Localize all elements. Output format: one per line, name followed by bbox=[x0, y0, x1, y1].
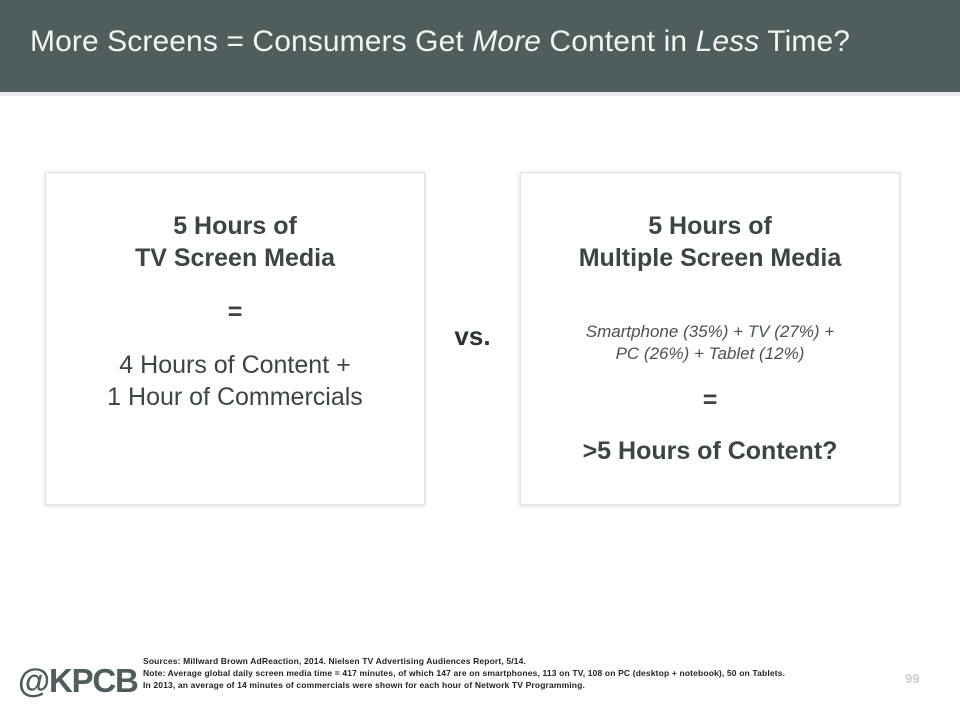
right-panel-breakdown-line-2: PC (26%) + Tablet (12%) bbox=[549, 343, 871, 365]
page-title-segment-3: Time? bbox=[759, 25, 850, 58]
right-panel-breakdown-line-1: Smartphone (35%) + TV (27%) + bbox=[549, 321, 871, 343]
source-note-line-1: Sources: Millward Brown AdReaction, 2014… bbox=[143, 655, 903, 667]
left-panel-detail: 4 Hours of Content + 1 Hour of Commercia… bbox=[46, 349, 424, 413]
right-panel-headline: 5 Hours of Multiple Screen Media bbox=[521, 210, 899, 274]
left-panel-detail-line-1: 4 Hours of Content + bbox=[46, 349, 424, 381]
page-title-emphasis-less: Less bbox=[696, 25, 760, 58]
left-panel-headline: 5 Hours of TV Screen Media bbox=[46, 210, 424, 274]
source-notes: Sources: Millward Brown AdReaction, 2014… bbox=[143, 655, 903, 691]
right-panel-headline-line-1: 5 Hours of bbox=[521, 210, 899, 242]
multiple-screen-media-panel: 5 Hours of Multiple Screen Media Smartph… bbox=[520, 172, 900, 505]
right-panel-headline-line-2: Multiple Screen Media bbox=[521, 242, 899, 274]
source-note-line-2: Note: Average global daily screen media … bbox=[143, 667, 903, 679]
slide-canvas: More Screens = Consumers Get More Conten… bbox=[0, 0, 960, 720]
page-title-segment-2: Content in bbox=[541, 25, 696, 58]
tv-screen-media-panel: 5 Hours of TV Screen Media = 4 Hours of … bbox=[45, 172, 425, 505]
right-panel-conclusion: >5 Hours of Content? bbox=[521, 435, 899, 467]
right-panel-equals-sign: = bbox=[521, 388, 899, 413]
page-title-emphasis-more: More bbox=[472, 25, 541, 58]
versus-label: vs. bbox=[425, 321, 520, 352]
kpcb-logo: @KPCB bbox=[18, 664, 138, 697]
header-divider bbox=[0, 92, 960, 96]
page-title: More Screens = Consumers Get More Conten… bbox=[30, 25, 940, 59]
page-title-segment-1: More Screens = Consumers Get bbox=[30, 25, 472, 58]
left-panel-detail-line-2: 1 Hour of Commercials bbox=[46, 381, 424, 413]
source-note-line-3: In 2013, an average of 14 minutes of com… bbox=[143, 679, 903, 691]
left-panel-headline-line-1: 5 Hours of bbox=[46, 210, 424, 242]
right-panel-breakdown: Smartphone (35%) + TV (27%) + PC (26%) +… bbox=[521, 321, 899, 365]
page-number: 99 bbox=[905, 671, 919, 686]
left-panel-equals-sign: = bbox=[46, 300, 424, 325]
left-panel-headline-line-2: TV Screen Media bbox=[46, 242, 424, 274]
